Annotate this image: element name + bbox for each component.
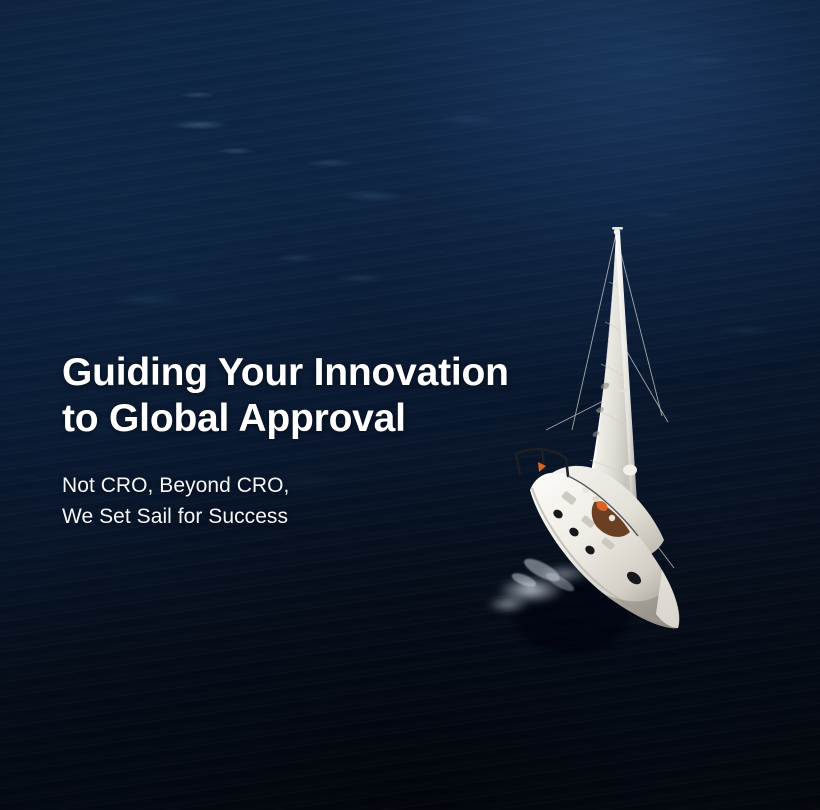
page-title: Guiding Your Innovation to Global Approv…	[62, 350, 622, 442]
hero-copy: Guiding Your Innovation to Global Approv…	[62, 350, 622, 532]
hero-banner: Guiding Your Innovation to Global Approv…	[0, 0, 820, 810]
hero-subheadline: Not CRO, Beyond CRO, We Set Sail for Suc…	[62, 470, 622, 532]
